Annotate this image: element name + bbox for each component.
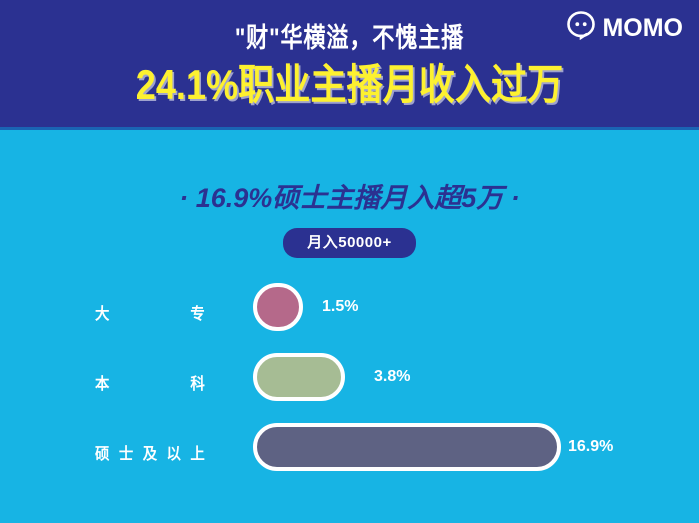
bar-fill xyxy=(253,283,303,331)
bar-category-label: 本科 xyxy=(95,375,205,395)
chart-subtitle: · 16.9%硕士主播月入超5万 · xyxy=(0,181,699,215)
bar-chart: 大专 1.5% 本科 3.8% 硕士及以上 16.9% xyxy=(0,283,699,493)
bar-value-label: 16.9% xyxy=(568,437,613,457)
infographic-root: "财"华横溢，不愧主播 24.1%职业主播月收入过万 MOMO · 16.9%硕… xyxy=(0,0,699,523)
bar-track xyxy=(253,353,345,401)
bar-track xyxy=(253,423,561,471)
chart-row: 大专 1.5% xyxy=(0,283,699,353)
momo-logo: MOMO xyxy=(566,10,683,45)
header-divider-rule xyxy=(0,127,699,130)
chart-row: 本科 3.8% xyxy=(0,353,699,423)
chart-row: 硕士及以上 16.9% xyxy=(0,423,699,493)
bar-category-label: 硕士及以上 xyxy=(95,445,205,465)
bar-fill xyxy=(253,423,561,471)
header-kicker-text: "财"华横溢，不愧主播 xyxy=(63,21,636,55)
momo-logo-text: MOMO xyxy=(602,14,683,42)
bar-category-label: 大专 xyxy=(95,305,205,325)
bar-fill xyxy=(253,353,345,401)
badge-container: 月入50000+ xyxy=(0,228,699,258)
bar-track xyxy=(253,283,303,331)
page-title: 24.1%职业主播月收入过万 xyxy=(49,60,650,110)
momo-speech-bubble-icon xyxy=(566,10,596,45)
bar-value-label: 1.5% xyxy=(322,297,358,317)
status-badge: 月入50000+ xyxy=(283,228,415,258)
bar-value-label: 3.8% xyxy=(374,367,410,387)
